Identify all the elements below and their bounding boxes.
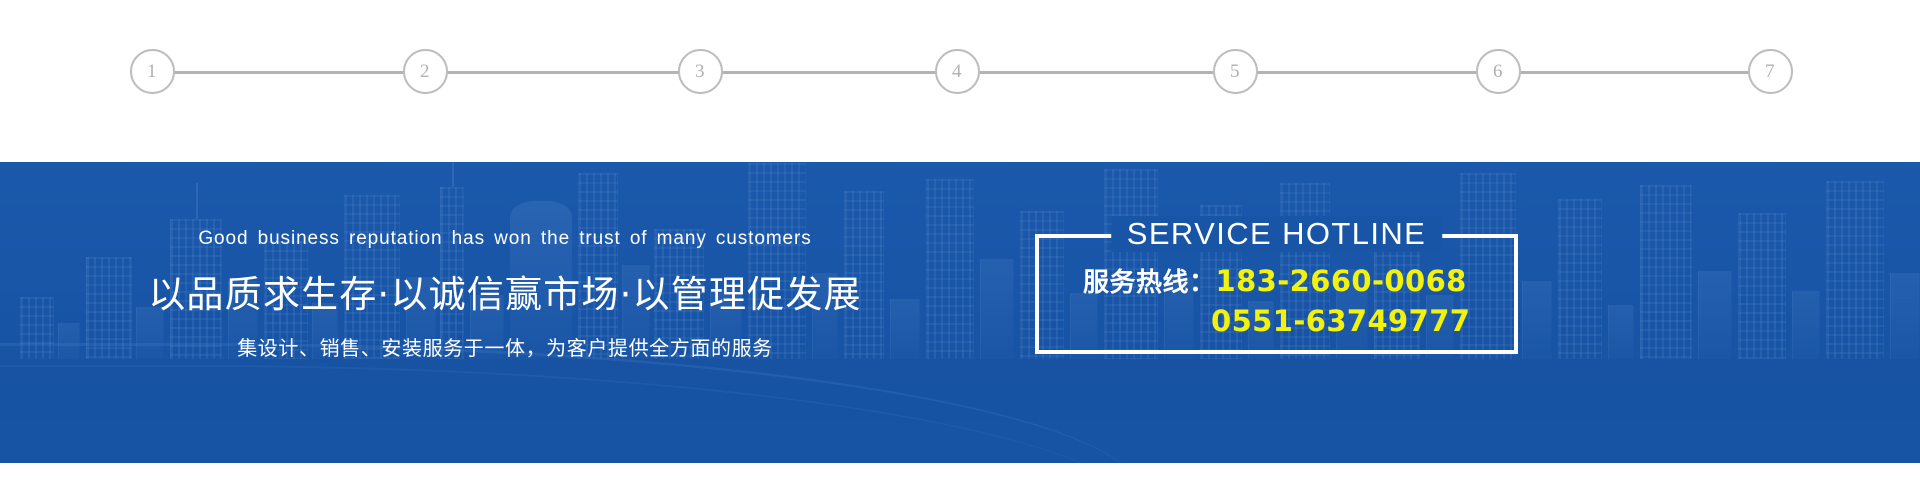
hotline-number-primary[interactable]: 183-2660-0068	[1216, 264, 1467, 298]
step-node-6[interactable]: 6	[1476, 49, 1521, 94]
step-connector-line	[700, 71, 957, 74]
slogan-headline: 以品质求生存·以诚信赢市场·以管理促发展	[148, 264, 862, 318]
hotline-row-primary: 服务热线： 183-2660-0068	[1083, 262, 1518, 304]
step-progress-bar: 1 2 3 4 5 6 7	[0, 0, 1920, 162]
step-connector-line	[957, 71, 1235, 74]
step-node-label: 6	[1493, 62, 1503, 81]
step-connector-line	[1498, 71, 1770, 74]
step-node-label: 7	[1765, 62, 1775, 81]
step-node-label: 2	[420, 62, 430, 81]
step-connector-line	[152, 71, 425, 74]
step-node-1[interactable]: 1	[130, 49, 175, 94]
service-hotline-panel: SERVICE HOTLINE 服务热线： 183-2660-0068 0551…	[1035, 234, 1518, 354]
hotline-row-secondary: 0551-63749777	[1083, 304, 1518, 346]
step-node-label: 3	[695, 62, 705, 81]
step-node-2[interactable]: 2	[403, 49, 448, 94]
step-node-label: 5	[1230, 62, 1240, 81]
hotline-title: SERVICE HOTLINE	[1111, 216, 1443, 252]
step-connector-line	[1235, 71, 1498, 74]
hotline-numbers: 服务热线： 183-2660-0068 0551-63749777	[1035, 262, 1518, 346]
step-node-label: 1	[147, 62, 157, 81]
promo-banner: Good business reputation has won the tru…	[0, 162, 1920, 463]
step-node-5[interactable]: 5	[1213, 49, 1258, 94]
slogan-english: Good business reputation has won the tru…	[198, 228, 811, 250]
slogan-block: Good business reputation has won the tru…	[0, 162, 1010, 463]
slogan-subtitle: 集设计、销售、安装服务于一体，为客户提供全方面的服务	[237, 332, 773, 361]
step-connector-line	[425, 71, 700, 74]
step-node-3[interactable]: 3	[678, 49, 723, 94]
page-root: 1 2 3 4 5 6 7	[0, 0, 1920, 500]
hotline-number-secondary[interactable]: 0551-63749777	[1211, 304, 1470, 338]
step-node-label: 4	[952, 62, 962, 81]
step-node-7[interactable]: 7	[1748, 49, 1793, 94]
step-node-4[interactable]: 4	[935, 49, 980, 94]
hotline-label: 服务热线：	[1083, 262, 1216, 299]
